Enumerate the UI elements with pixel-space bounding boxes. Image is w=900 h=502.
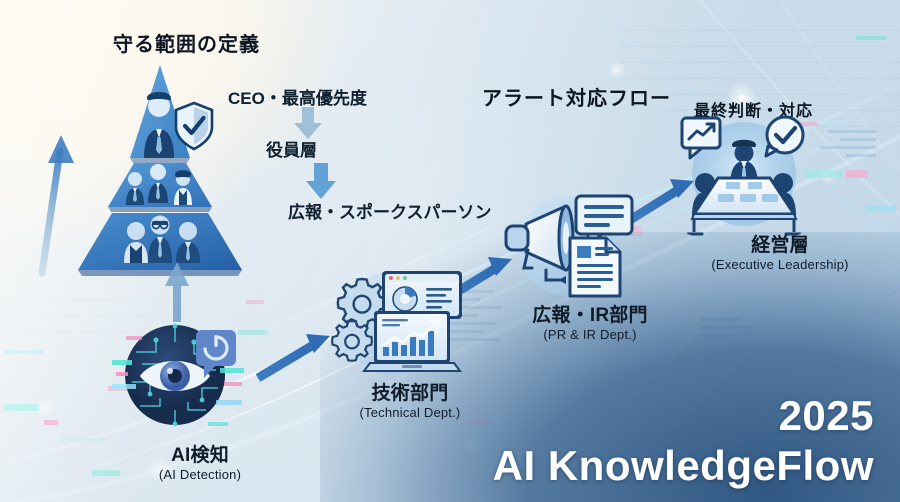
gears-dashboard-icon: [330, 265, 468, 377]
node-label-ai-detection: AI検知 (AI Detection): [110, 440, 290, 482]
laptop-chart: [364, 311, 460, 371]
megaphone-document-icon: [496, 190, 636, 302]
brand-name: AI KnowledgeFlow: [493, 442, 874, 490]
gear-icon-small: [332, 321, 372, 361]
pyramid-label-spokesperson: 広報・スポークスパーソン: [288, 198, 492, 223]
pyramid-tier-middle: [108, 163, 212, 212]
pyramid-label-executives: 役員層: [266, 136, 317, 161]
node-label-technical-dept: 技術部門 (Technical Dept.): [320, 378, 500, 420]
section-title-scope: 守る範囲の定義: [113, 28, 260, 57]
document-icon: [570, 238, 620, 296]
section-title-alert-flow: アラート対応フロー: [482, 82, 671, 111]
growth-arrow-up: [42, 135, 74, 273]
eye-circuit-icon: [112, 312, 248, 438]
pyramid-tier-top: [130, 65, 212, 163]
pyramid-label-ceo: CEO・最高優先度: [228, 84, 367, 109]
boardroom-icon: [678, 112, 810, 236]
node-label-pr-ir-dept: 広報・IR部門 (PR & IR Dept.): [490, 300, 690, 342]
pyramid-tier-base: [78, 213, 242, 276]
brand-year: 2025: [779, 392, 874, 440]
check-bubble-icon: [766, 117, 803, 156]
node-label-executive-leadership: 経営層 (Executive Leadership): [664, 230, 896, 272]
infographic-canvas: AI検知 (AI Detection): [0, 0, 900, 502]
